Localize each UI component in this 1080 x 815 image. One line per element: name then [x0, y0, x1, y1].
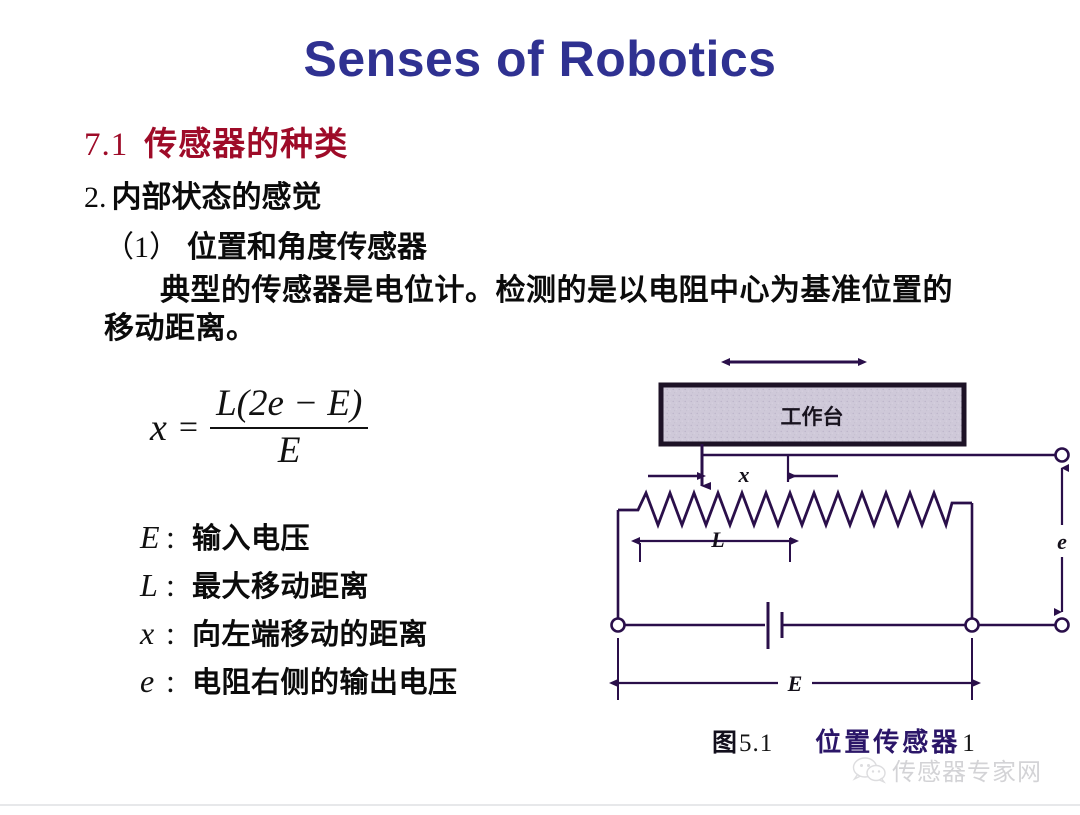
item-title: 位置和角度传感器 [187, 222, 427, 266]
legend-item: x : 向左端移动的距离 [140, 611, 458, 659]
legend-description: 最大移动距离 [192, 563, 369, 605]
sensor-schematic-svg: 工作台 x L [600, 340, 1080, 740]
position-sensor-diagram: 工作台 x L [600, 340, 1080, 740]
formula-lhs: x [150, 406, 167, 450]
item-number: （1） [104, 222, 179, 266]
bottom-divider [0, 804, 1080, 806]
watermark-text: 传感器专家网 [892, 752, 1042, 787]
legend-item: e : 电阻右侧的输出电压 [140, 659, 458, 707]
body-paragraph: 典型的传感器是电位计。检测的是以电阻中心为基准位置的移动距离。 [104, 272, 974, 349]
subsection-title: 内部状态的感觉 [112, 172, 322, 216]
formula-denominator: E [278, 429, 301, 471]
resistor-element [618, 493, 972, 525]
watermark: 传感器专家网 [852, 752, 1042, 787]
symbol-legend: E : 输入电压 L : 最大移动距离 x : 向左端移动的距离 e : 电阻右… [140, 515, 458, 707]
slide-canvas: Senses of Robotics 7.1 传感器的种类 2. 内部状态的感觉… [0, 0, 1080, 815]
legend-description: 输入电压 [192, 515, 310, 557]
terminal-output-negative [1056, 619, 1069, 632]
subsection-heading: 2. 内部状态的感觉 [84, 172, 322, 216]
formula-block: x = L(2e − E) E [150, 385, 368, 471]
section-number: 7.1 [84, 127, 128, 164]
formula-numerator: L(2e − E) [210, 385, 368, 427]
figure-number: 5.1 [739, 730, 773, 758]
terminal-output-positive [1056, 449, 1069, 462]
terminal-bottom-left [612, 619, 625, 632]
L-dimension-label: L [710, 527, 724, 552]
legend-item: E : 输入电压 [140, 515, 458, 563]
x-dimension-label: x [738, 462, 750, 487]
legend-description: 向左端移动的距离 [192, 611, 428, 653]
legend-symbol: L [140, 567, 166, 604]
formula-equals: = [179, 409, 198, 447]
legend-colon: : [166, 567, 192, 604]
figure-number-group: 图 5.1 [712, 723, 773, 759]
legend-symbol: E [140, 519, 166, 556]
legend-colon: : [166, 615, 192, 652]
legend-colon: : [166, 663, 192, 700]
legend-symbol: e [140, 663, 166, 700]
worktable-label: 工作台 [781, 405, 844, 429]
e-dimension-label: e [1057, 529, 1067, 554]
legend-description: 电阻右侧的输出电压 [192, 659, 458, 701]
terminal-bottom-node [966, 619, 979, 632]
legend-symbol: x [140, 615, 166, 652]
subsection-number: 2. [84, 181, 107, 215]
figure-word: 图 [712, 723, 737, 759]
legend-colon: : [166, 519, 192, 556]
page-title: Senses of Robotics [0, 30, 1080, 88]
E-dimension-label: E [787, 671, 803, 696]
wechat-icon [852, 756, 886, 784]
item-heading: （1） 位置和角度传感器 [104, 222, 427, 266]
section-heading: 7.1 传感器的种类 [84, 117, 348, 165]
section-title: 传感器的种类 [144, 117, 348, 165]
formula-fraction: L(2e − E) E [210, 385, 368, 471]
legend-item: L : 最大移动距离 [140, 563, 458, 611]
